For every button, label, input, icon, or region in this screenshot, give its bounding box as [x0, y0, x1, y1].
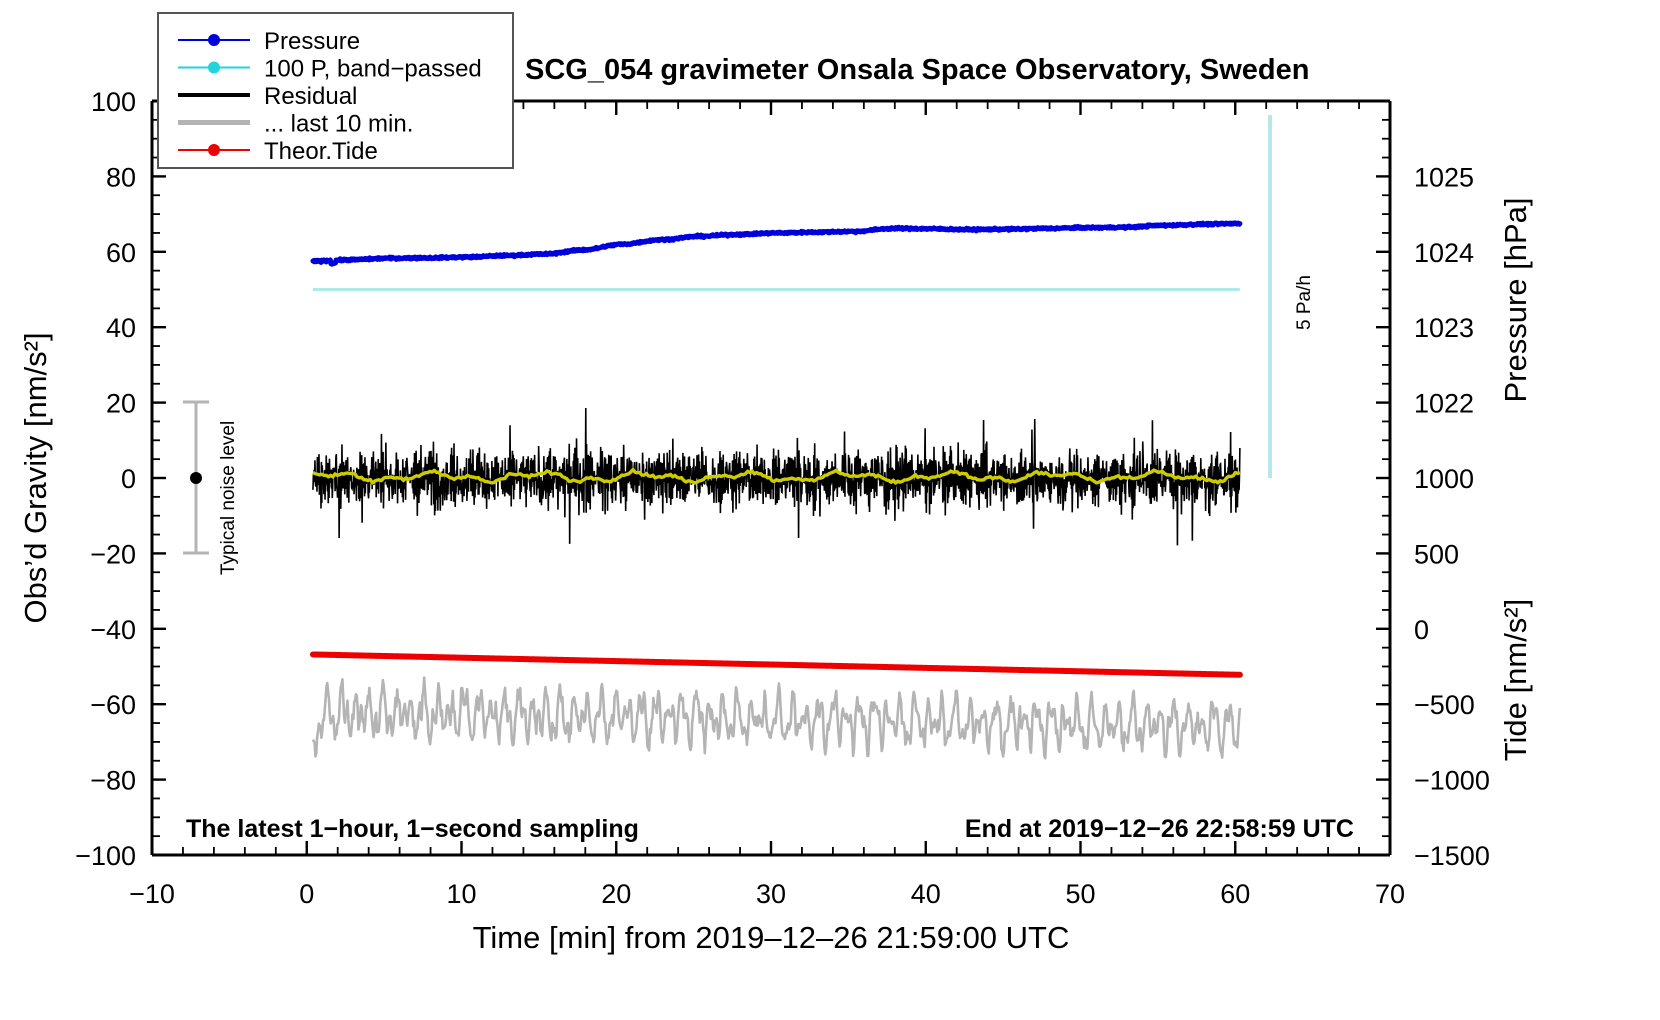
legend-item-label: Theor.Tide: [264, 138, 378, 165]
y-tick-label: −20: [90, 539, 136, 569]
y-tick-label: 40: [106, 313, 136, 343]
y-axis-title: Obs’d Gravity [nm/s²]: [18, 332, 53, 623]
chart-svg: −10010203040506070 −100−80−60−40−2002040…: [0, 0, 1660, 1020]
noise-bar-label: Typical noise level: [218, 421, 239, 575]
pressure-tick-label: 1023: [1414, 313, 1474, 343]
chart-title: SCG_054 gravimeter Onsala Space Observat…: [525, 54, 1309, 86]
legend-item-label: ... last 10 min.: [264, 111, 413, 138]
y-tick-label: −60: [90, 690, 136, 720]
y-tick-label: 80: [106, 162, 136, 192]
legend-item-label: Pressure: [264, 28, 360, 55]
tide-tick-label: −500: [1414, 690, 1475, 720]
x-tick-label: 70: [1375, 879, 1405, 909]
x-tick-label: 0: [299, 879, 314, 909]
pressure-scale-bar-label: 5 Pa/h: [1294, 275, 1315, 330]
legend-item-label: Residual: [264, 83, 357, 110]
pressure-tick-label: 1022: [1414, 389, 1474, 419]
y-tick-label: 100: [91, 87, 136, 117]
y-tick-label: −40: [90, 615, 136, 645]
noise-bar-center-dot: [190, 472, 202, 484]
tide-tick-label: 0: [1414, 615, 1429, 645]
x-tick-label: 30: [756, 879, 786, 909]
footer-left-text: The latest 1−hour, 1−second sampling: [186, 815, 639, 843]
x-tick-label: 40: [911, 879, 941, 909]
x-tick-label: 50: [1065, 879, 1095, 909]
chart-legend[interactable]: Pressure100 P, band−passedResidual... la…: [158, 13, 513, 168]
legend-swatch-dot: [208, 144, 220, 156]
pressure-axis-title: Pressure [hPa]: [1498, 197, 1533, 402]
x-tick-label: 20: [601, 879, 631, 909]
y-tick-label: 20: [106, 389, 136, 419]
y-tick-label: 0: [121, 464, 136, 494]
pressure-tick-label: 1025: [1414, 162, 1474, 192]
x-tick-label: −10: [129, 879, 175, 909]
pressure-tick-label: 1024: [1414, 238, 1474, 268]
tide-tick-label: 1000: [1414, 464, 1474, 494]
footer-right-text: End at 2019−12−26 22:58:59 UTC: [965, 815, 1354, 843]
gravimeter-chart-figure: −10010203040506070 −100−80−60−40−2002040…: [0, 0, 1660, 1020]
y-tick-label: −100: [75, 841, 136, 871]
tide-tick-label: 500: [1414, 539, 1459, 569]
y-tick-label: 60: [106, 238, 136, 268]
legend-swatch-dot: [208, 62, 220, 74]
y-tick-label: −80: [90, 766, 136, 796]
legend-item-label: 100 P, band−passed: [264, 56, 482, 83]
x-tick-label: 10: [446, 879, 476, 909]
tide-axis-title: Tide [nm/s²]: [1498, 599, 1533, 762]
x-axis-title: Time [min] from 2019–12–26 21:59:00 UTC: [473, 920, 1070, 955]
legend-swatch-dot: [208, 34, 220, 46]
tide-tick-label: −1500: [1414, 841, 1490, 871]
tide-tick-label: −1000: [1414, 766, 1490, 796]
x-tick-label: 60: [1220, 879, 1250, 909]
